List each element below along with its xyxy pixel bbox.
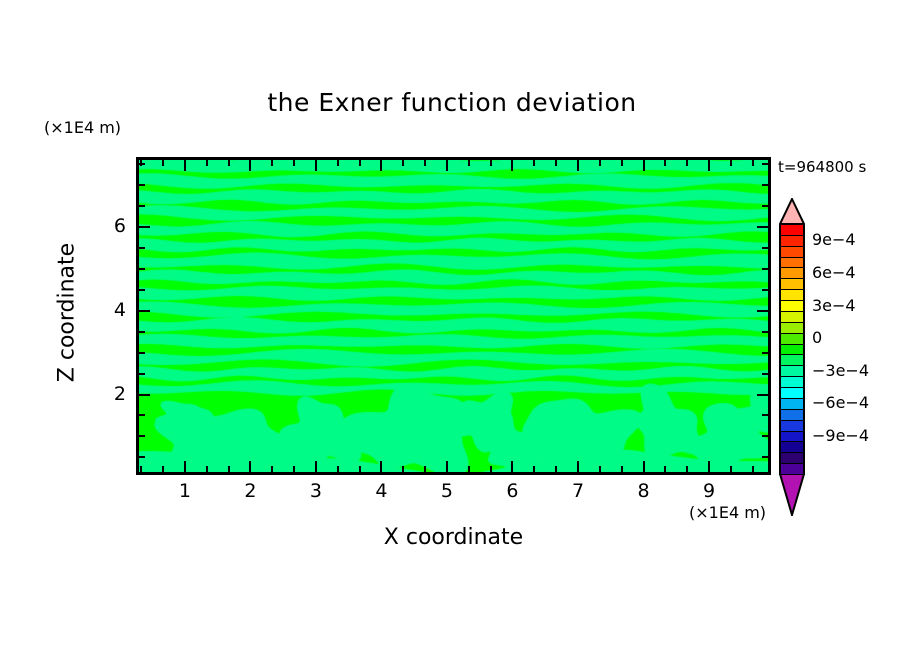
x-axis-label: X coordinate xyxy=(136,525,771,550)
x-minor-tick-top xyxy=(337,160,339,166)
x-minor-tick-top xyxy=(293,160,295,166)
x-minor-tick xyxy=(468,466,470,472)
colorbar-tick-label: −9e−4 xyxy=(812,426,869,445)
x-minor-tick-top xyxy=(271,160,273,166)
x-minor-tick-top xyxy=(730,160,732,166)
x-tick-label: 7 xyxy=(558,480,598,502)
x-axis-units: (×1E4 m) xyxy=(689,503,766,522)
colorbar xyxy=(779,198,805,516)
x-major-tick-top xyxy=(511,160,513,171)
y-minor-tick xyxy=(139,184,145,186)
x-minor-tick-top xyxy=(664,160,666,166)
page-title: the Exner function deviation xyxy=(0,88,904,117)
y-major-tick xyxy=(139,310,150,312)
y-minor-tick xyxy=(139,352,145,354)
contour-plot-area xyxy=(136,157,771,475)
y-minor-tick-right xyxy=(762,352,768,354)
x-major-tick-top xyxy=(643,160,645,171)
colorbar-tick-label: 9e−4 xyxy=(812,230,856,249)
y-major-tick-right xyxy=(757,226,768,228)
x-minor-tick xyxy=(140,466,142,472)
x-minor-tick xyxy=(293,466,295,472)
y-tick-label: 4 xyxy=(86,299,126,321)
x-minor-tick xyxy=(271,466,273,472)
y-minor-tick xyxy=(139,268,145,270)
x-minor-tick xyxy=(402,466,404,472)
x-tick-label: 8 xyxy=(624,480,664,502)
y-axis-units: (×1E4 m) xyxy=(44,118,121,137)
y-major-tick-right xyxy=(757,310,768,312)
y-major-tick xyxy=(139,394,150,396)
x-tick-label: 4 xyxy=(361,480,401,502)
x-minor-tick-top xyxy=(555,160,557,166)
x-minor-tick xyxy=(206,466,208,472)
x-major-tick-top xyxy=(446,160,448,171)
x-minor-tick-top xyxy=(599,160,601,166)
x-minor-tick-top xyxy=(490,160,492,166)
x-major-tick-top xyxy=(184,160,186,171)
x-major-tick-top xyxy=(380,160,382,171)
y-minor-tick-right xyxy=(762,331,768,333)
x-major-tick-top xyxy=(249,160,251,171)
x-minor-tick-top xyxy=(162,160,164,166)
time-annotation: t=964800 s xyxy=(778,158,866,176)
y-tick-label: 2 xyxy=(86,383,126,405)
x-minor-tick xyxy=(490,466,492,472)
x-tick-label: 3 xyxy=(296,480,336,502)
x-tick-label: 1 xyxy=(165,480,205,502)
y-major-tick xyxy=(139,226,150,228)
x-minor-tick-top xyxy=(468,160,470,166)
y-minor-tick xyxy=(139,373,145,375)
y-minor-tick-right xyxy=(762,435,768,437)
y-minor-tick xyxy=(139,414,145,416)
x-major-tick xyxy=(249,461,251,472)
colorbar-over-arrow xyxy=(779,198,805,224)
y-major-tick-right xyxy=(757,394,768,396)
colorbar-tick-label: 6e−4 xyxy=(812,263,856,282)
y-minor-tick xyxy=(139,163,145,165)
x-minor-tick-top xyxy=(686,160,688,166)
colorbar-tick-label: 0 xyxy=(812,328,822,347)
y-minor-tick-right xyxy=(762,456,768,458)
x-minor-tick xyxy=(664,466,666,472)
x-major-tick-top xyxy=(577,160,579,171)
x-minor-tick xyxy=(555,466,557,472)
x-minor-tick xyxy=(752,466,754,472)
x-major-tick-top xyxy=(315,160,317,171)
x-minor-tick xyxy=(162,466,164,472)
y-minor-tick xyxy=(139,289,145,291)
x-tick-label: 9 xyxy=(689,480,729,502)
x-minor-tick-top xyxy=(752,160,754,166)
y-minor-tick xyxy=(139,247,145,249)
x-major-tick xyxy=(643,461,645,472)
x-minor-tick xyxy=(599,466,601,472)
colorbar-tick-label: −3e−4 xyxy=(812,361,869,380)
y-tick-label: 6 xyxy=(86,215,126,237)
x-major-tick xyxy=(511,461,513,472)
y-minor-tick-right xyxy=(762,414,768,416)
x-major-tick xyxy=(184,461,186,472)
x-minor-tick xyxy=(228,466,230,472)
y-axis-label: Z coordinate xyxy=(55,233,80,393)
y-minor-tick-right xyxy=(762,268,768,270)
x-major-tick xyxy=(446,461,448,472)
figure-root: the Exner function deviation (×1E4 m) (×… xyxy=(0,0,904,654)
x-minor-tick-top xyxy=(402,160,404,166)
x-major-tick xyxy=(315,461,317,472)
x-major-tick-top xyxy=(708,160,710,171)
x-minor-tick-top xyxy=(359,160,361,166)
colorbar-tick-label: 3e−4 xyxy=(812,296,856,315)
x-major-tick xyxy=(577,461,579,472)
y-minor-tick xyxy=(139,456,145,458)
y-minor-tick xyxy=(139,331,145,333)
x-minor-tick xyxy=(359,466,361,472)
contour-field xyxy=(139,160,768,472)
x-minor-tick-top xyxy=(206,160,208,166)
x-minor-tick xyxy=(533,466,535,472)
y-minor-tick-right xyxy=(762,247,768,249)
x-major-tick xyxy=(380,461,382,472)
x-minor-tick xyxy=(621,466,623,472)
y-minor-tick-right xyxy=(762,205,768,207)
x-minor-tick xyxy=(424,466,426,472)
y-minor-tick xyxy=(139,205,145,207)
x-minor-tick xyxy=(686,466,688,472)
x-minor-tick-top xyxy=(621,160,623,166)
x-major-tick xyxy=(708,461,710,472)
x-tick-label: 5 xyxy=(427,480,467,502)
y-minor-tick xyxy=(139,435,145,437)
y-minor-tick-right xyxy=(762,289,768,291)
x-tick-label: 2 xyxy=(230,480,270,502)
y-minor-tick-right xyxy=(762,373,768,375)
x-minor-tick xyxy=(730,466,732,472)
x-tick-label: 6 xyxy=(492,480,532,502)
y-minor-tick-right xyxy=(762,184,768,186)
x-minor-tick-top xyxy=(533,160,535,166)
x-minor-tick xyxy=(337,466,339,472)
y-minor-tick-right xyxy=(762,163,768,165)
colorbar-tick-label: −6e−4 xyxy=(812,393,869,412)
x-minor-tick-top xyxy=(424,160,426,166)
x-minor-tick-top xyxy=(228,160,230,166)
colorbar-under-arrow xyxy=(779,474,805,516)
